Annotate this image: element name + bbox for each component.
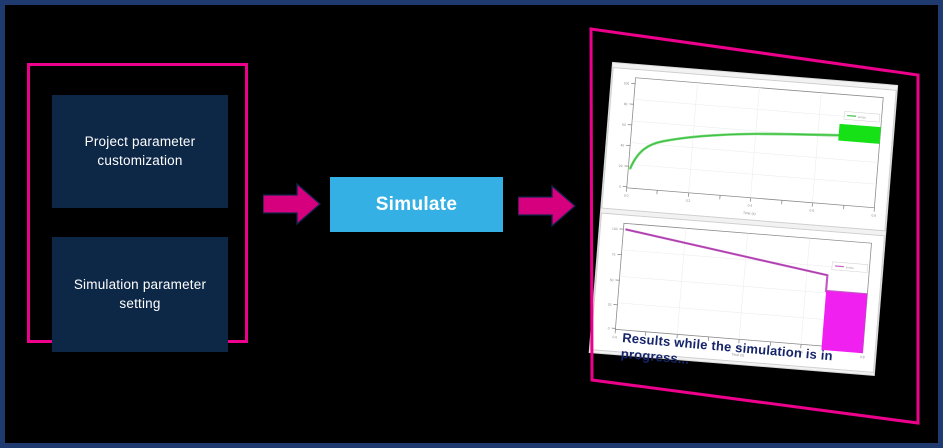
svg-text:0.6: 0.6 (809, 208, 814, 212)
svg-text:60: 60 (622, 123, 626, 127)
param-box-1-label: Project parameter customization (60, 133, 220, 169)
svg-text:25: 25 (608, 303, 612, 307)
simulate-button[interactable]: Simulate (330, 177, 503, 232)
svg-text:0.8: 0.8 (871, 213, 876, 217)
svg-text:100: 100 (623, 81, 629, 85)
svg-text:0.0: 0.0 (624, 193, 629, 197)
arrow-right-icon-1 (263, 183, 321, 225)
input-parameters-group: Project parameter customization Simulati… (27, 63, 248, 343)
svg-text:50: 50 (610, 278, 614, 282)
svg-text:80: 80 (624, 102, 628, 106)
simulate-button-label: Simulate (376, 194, 458, 216)
arrow-right-icon-2 (518, 185, 576, 227)
svg-text:100: 100 (612, 227, 618, 231)
svg-text:20: 20 (619, 164, 623, 168)
results-screenshot: 100 80 60 40 20 0 (590, 63, 897, 375)
svg-text:series: series (858, 115, 867, 120)
svg-text:0.4: 0.4 (747, 203, 752, 207)
svg-text:0.0: 0.0 (612, 335, 617, 339)
project-parameter-customization-box[interactable]: Project parameter customization (52, 95, 228, 208)
svg-text:40: 40 (620, 143, 624, 147)
simulation-parameter-setting-box[interactable]: Simulation parameter setting (52, 237, 228, 352)
svg-text:series: series (846, 265, 855, 270)
svg-text:0.2: 0.2 (686, 198, 691, 202)
chart-panel-cumulative-output[interactable]: 100 80 60 40 20 0 (601, 67, 896, 231)
svg-text:0.8: 0.8 (860, 355, 865, 359)
param-box-2-label: Simulation parameter setting (60, 276, 220, 312)
svg-text:75: 75 (612, 252, 616, 256)
slide-canvas: Project parameter customization Simulati… (0, 0, 943, 448)
